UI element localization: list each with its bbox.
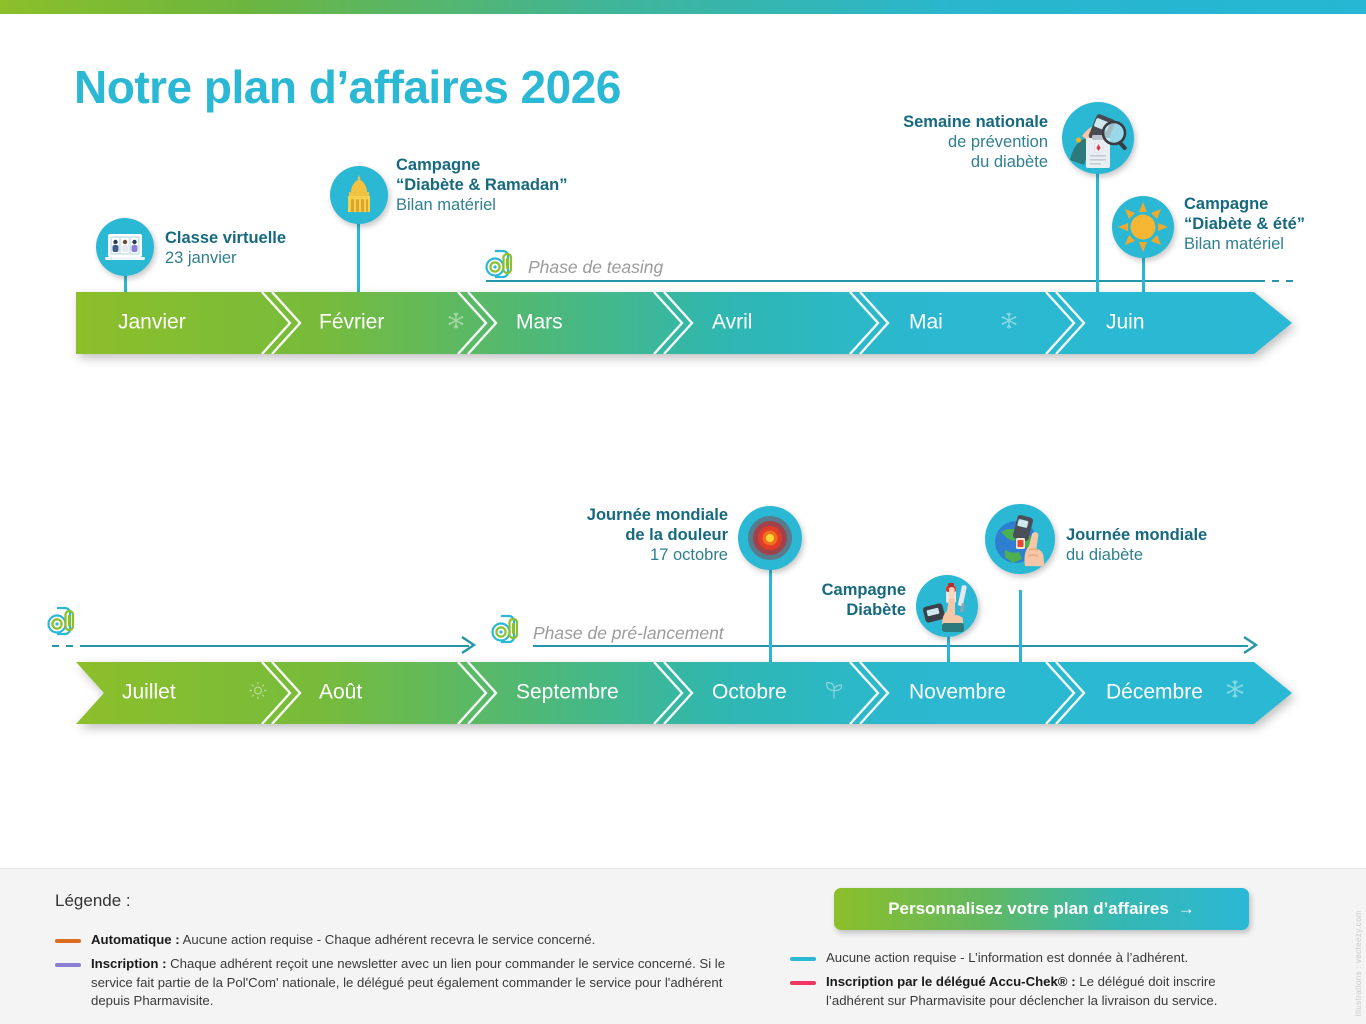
- callout-journee-douleur: Journée mondiale de la douleur 17 octobr…: [548, 505, 728, 565]
- cta-label: Personnalisez votre plan d’affaires: [888, 899, 1169, 919]
- month-label-mars: Mars: [516, 311, 563, 335]
- callout-title-line1: Campagne: [740, 580, 906, 600]
- legend-text-inscription: Inscription : Chaque adhérent reçoit une…: [91, 955, 755, 1011]
- legend-bold-inscription-delegue: Inscription par le délégué Accu-Chek® :: [826, 974, 1076, 989]
- legend-body-automatique: Aucune action requise - Chaque adhérent …: [180, 932, 596, 947]
- legend-item-inscription-delegue: Inscription par le délégué Accu-Chek® : …: [790, 973, 1270, 1010]
- legend-swatch-aucune-action: [790, 957, 816, 961]
- month-label-fevrier: Février: [319, 311, 384, 335]
- phase-label-teasing: Phase de teasing: [528, 257, 663, 278]
- infographic-page: Notre plan d’affaires 2026 Phase de teas…: [0, 0, 1366, 1024]
- snowflake-icon: [446, 311, 466, 336]
- glucometer-report-icon: [1062, 102, 1134, 174]
- month-label-avril: Avril: [712, 311, 752, 335]
- phase-line-prelancement-tail: [533, 645, 1248, 647]
- leaf-icon: [824, 681, 844, 706]
- timeline-2-month-bar: Juillet Août Septembre Octobre Novembre …: [76, 662, 1292, 724]
- legend-item-aucune-action: Aucune action requise - L’information es…: [790, 949, 1270, 968]
- callout-campagne-ete: Campagne “Diabète & été” Bilan matériel: [1184, 194, 1305, 254]
- callout-subtitle: Bilan matériel: [396, 195, 567, 215]
- glucometer-strip-icon: [484, 247, 524, 286]
- legend-heading: Légende :: [55, 891, 131, 911]
- mosque-icon: [330, 166, 388, 224]
- page-title: Notre plan d’affaires 2026: [74, 60, 621, 114]
- callout-title-line1: Campagne: [396, 155, 567, 175]
- callout-title: Classe virtuelle: [165, 228, 286, 248]
- callout-title-line1: Journée mondiale: [548, 505, 728, 525]
- timeline-2-month-labels: Juillet Août Septembre Octobre Novembre …: [76, 662, 1292, 724]
- virtual-classroom-icon: [96, 218, 154, 276]
- phase-line-prelancement: [86, 645, 469, 647]
- pain-target-icon: [738, 506, 802, 570]
- phase-arrow-mid-icon: [458, 633, 482, 662]
- callout-title-line1: Semaine nationale: [868, 112, 1048, 132]
- legend-bold-automatique: Automatique :: [91, 932, 180, 947]
- illustration-credit: illustrations : vecteezy.com: [1354, 910, 1363, 1016]
- finger-prick-icon: [916, 575, 978, 637]
- legend-item-automatique: Automatique : Aucune action requise - Ch…: [55, 931, 755, 950]
- month-label-octobre: Octobre: [712, 681, 787, 705]
- callout-title-line2: “Diabète & été”: [1184, 214, 1305, 234]
- month-label-septembre: Septembre: [516, 681, 619, 705]
- callout-subtitle: 17 octobre: [548, 545, 728, 565]
- phase-arrow-end-icon: [1240, 633, 1264, 662]
- callout-title-line1: Journée mondiale: [1066, 525, 1207, 545]
- legend-swatch-inscription-delegue: [790, 981, 816, 985]
- pin-stem: [1096, 172, 1099, 294]
- personnalisez-plan-button[interactable]: Personnalisez votre plan d’affaires →: [834, 888, 1249, 930]
- callout-title-line2: de prévention: [868, 132, 1048, 152]
- sun-icon: [248, 681, 268, 706]
- phase-line-teasing-tail: [1258, 280, 1294, 282]
- month-label-decembre: Décembre: [1106, 681, 1203, 705]
- callout-subtitle: 23 janvier: [165, 248, 286, 268]
- timeline-1-month-labels: Janvier Février Mars Avril Mai Juin: [76, 292, 1292, 354]
- legend-swatch-automatique: [55, 939, 81, 943]
- callout-classe-virtuelle: Classe virtuelle 23 janvier: [165, 228, 286, 268]
- callout-title-line2: “Diabète & Ramadan”: [396, 175, 567, 195]
- timeline-1-month-bar: Janvier Février Mars Avril Mai Juin: [76, 292, 1292, 354]
- sun-icon: [1112, 196, 1174, 258]
- month-label-juillet: Juillet: [122, 681, 176, 705]
- callout-title-line3: du diabète: [868, 152, 1048, 172]
- legend-item-inscription: Inscription : Chaque adhérent reçoit une…: [55, 955, 755, 1011]
- legend-swatch-inscription: [55, 963, 81, 967]
- legend-text-aucune-action: Aucune action requise - L’information es…: [826, 949, 1188, 968]
- snowflake-icon: [1224, 678, 1246, 705]
- month-label-mai: Mai: [909, 311, 943, 335]
- legend-text-automatique: Automatique : Aucune action requise - Ch…: [91, 931, 595, 950]
- glucometer-strip-icon: [490, 612, 530, 651]
- legend-text-inscription-delegue: Inscription par le délégué Accu-Chek® : …: [826, 973, 1270, 1010]
- callout-semaine-nationale: Semaine nationale de prévention du diabè…: [868, 112, 1048, 172]
- callout-campagne-diabete: Campagne Diabète: [740, 580, 906, 620]
- snowflake-icon: [999, 311, 1019, 336]
- world-diabetes-icon: [985, 504, 1055, 574]
- callout-title-line2: Diabète: [740, 600, 906, 620]
- pin-stem: [1019, 590, 1022, 666]
- legend-body-aucune-action: Aucune action requise - L’information es…: [826, 950, 1188, 965]
- phase-line-prelancement-head: [52, 645, 86, 647]
- month-label-janvier: Janvier: [118, 311, 186, 335]
- month-label-aout: Août: [319, 681, 362, 705]
- legend-bold-inscription: Inscription :: [91, 956, 166, 971]
- top-gradient-banner: [0, 0, 1366, 14]
- callout-subtitle: Bilan matériel: [1184, 234, 1305, 254]
- callout-journee-diabete: Journée mondiale du diabète: [1066, 525, 1207, 565]
- glucometer-strip-icon: [46, 598, 86, 651]
- callout-subtitle: du diabète: [1066, 545, 1207, 565]
- callout-title-line1: Campagne: [1184, 194, 1305, 214]
- month-label-juin: Juin: [1106, 311, 1145, 335]
- legend-body-inscription: Chaque adhérent reçoit une newsletter av…: [91, 956, 725, 1008]
- callout-campagne-ramadan: Campagne “Diabète & Ramadan” Bilan matér…: [396, 155, 567, 215]
- arrow-right-icon: →: [1178, 899, 1195, 919]
- month-label-novembre: Novembre: [909, 681, 1006, 705]
- phase-label-prelancement: Phase de pré-lancement: [533, 623, 724, 644]
- callout-title-line2: de la douleur: [548, 525, 728, 545]
